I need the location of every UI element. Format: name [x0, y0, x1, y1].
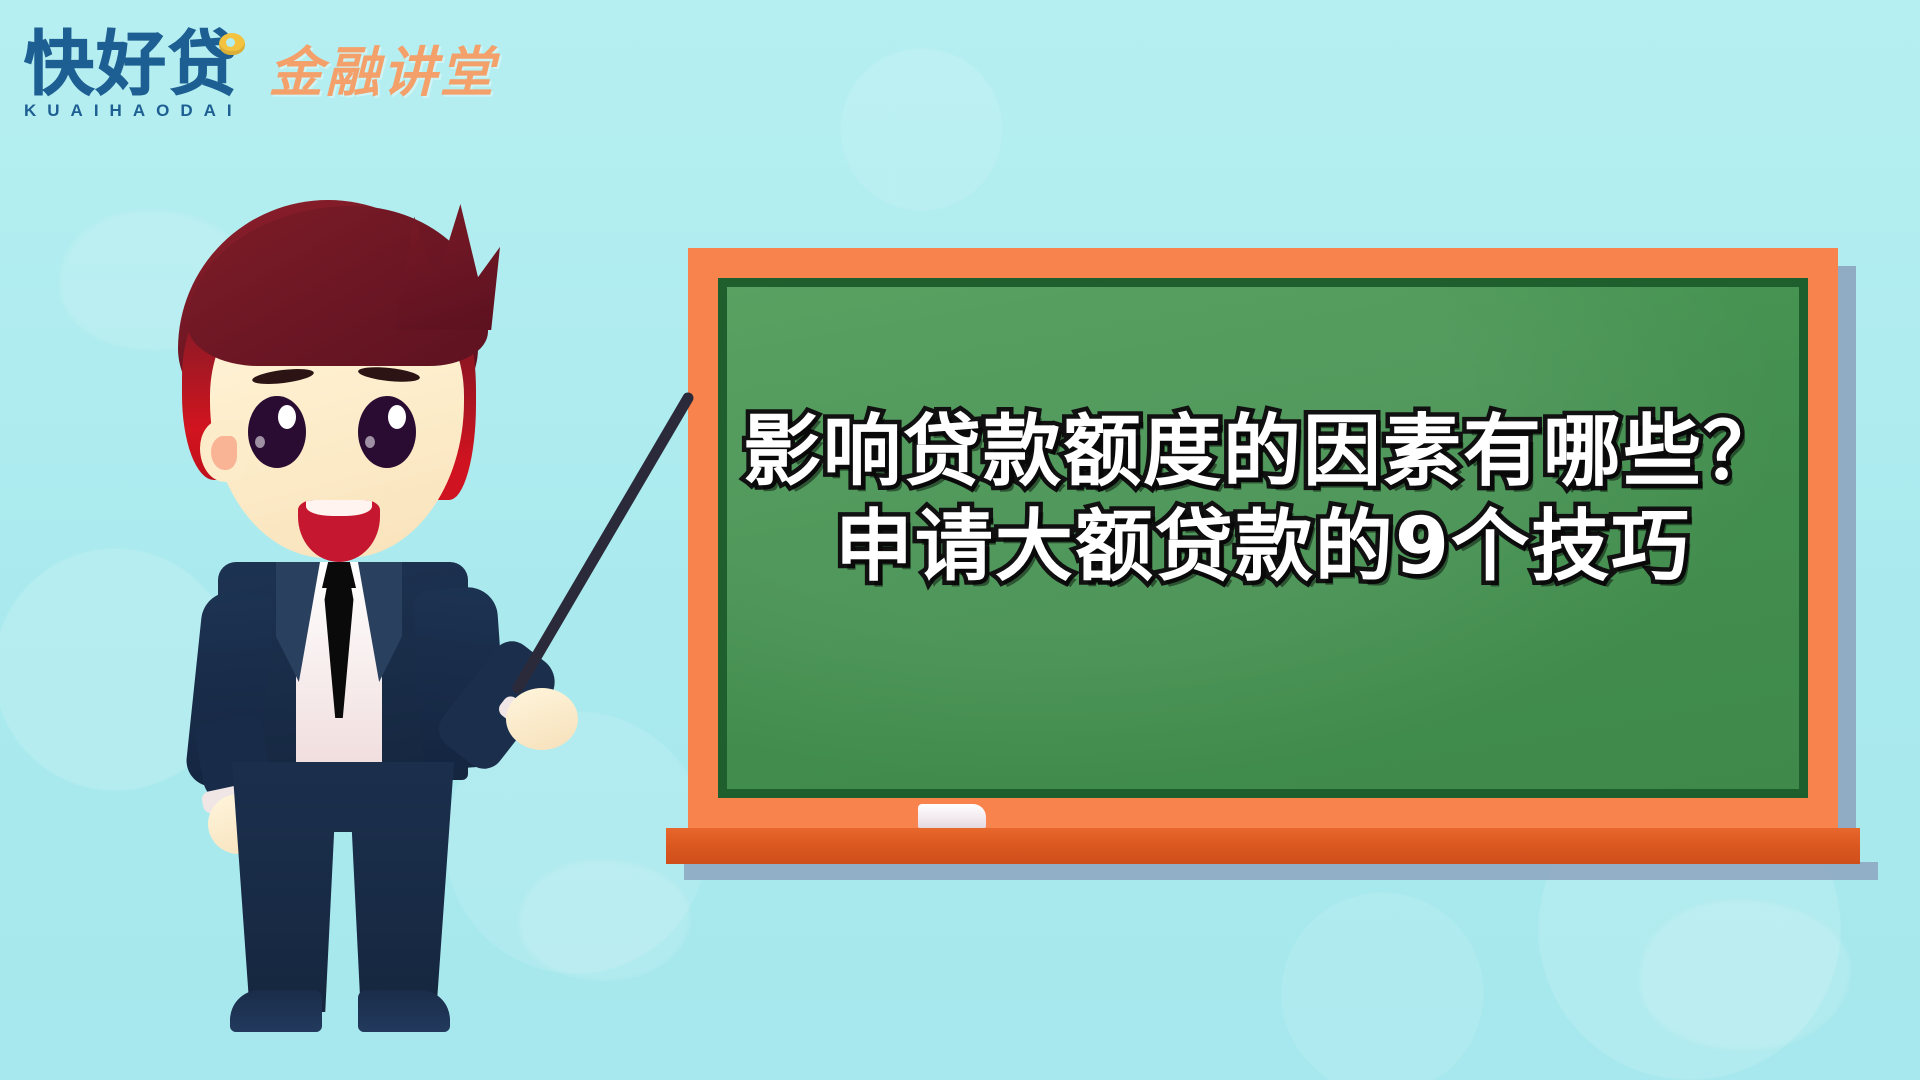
shoe-left	[230, 990, 322, 1032]
chalk-eraser-icon	[918, 804, 986, 829]
blackboard-surface: 影响贷款额度的因素有哪些？ 申请大额贷款的9个技巧	[727, 287, 1799, 789]
logo-mark: 快好贷 KUAIHAODAI	[24, 31, 243, 121]
ear-left	[200, 420, 246, 482]
blackboard: 影响贷款额度的因素有哪些？ 申请大额贷款的9个技巧	[688, 248, 1838, 828]
blackboard-text: 影响贷款额度的因素有哪些？ 申请大额贷款的9个技巧	[727, 405, 1799, 595]
shoe-right	[358, 990, 450, 1032]
brand-logo: 快好贷 KUAIHAODAI 金融讲堂	[24, 28, 497, 121]
program-title: 金融讲堂	[269, 28, 497, 107]
logo-latin-text: KUAIHAODAI	[24, 101, 243, 121]
blackboard-frame: 影响贷款额度的因素有哪些？ 申请大额贷款的9个技巧	[688, 248, 1838, 828]
eye-left	[248, 396, 306, 468]
chalk-tray	[666, 828, 1860, 864]
logo-coin-icon	[219, 33, 245, 55]
trousers	[232, 762, 454, 1012]
cartoon-teacher	[90, 190, 650, 1000]
teeth	[306, 500, 372, 516]
chalk-tray-shadow	[684, 862, 1878, 880]
background-blotch	[1640, 900, 1850, 1050]
eye-right	[358, 396, 416, 468]
video-frame: 快好贷 KUAIHAODAI 金融讲堂 影响贷款额度的因素有哪些？ 申请大额贷款…	[0, 0, 1920, 1080]
blackboard-inner-border: 影响贷款额度的因素有哪些？ 申请大额贷款的9个技巧	[718, 278, 1808, 798]
hand-right	[506, 688, 578, 750]
logo-chinese-text: 快好贷	[24, 31, 240, 98]
blackboard-line-2: 申请大额贷款的9个技巧	[727, 500, 1799, 595]
blackboard-line-1: 影响贷款额度的因素有哪些？	[727, 405, 1799, 500]
